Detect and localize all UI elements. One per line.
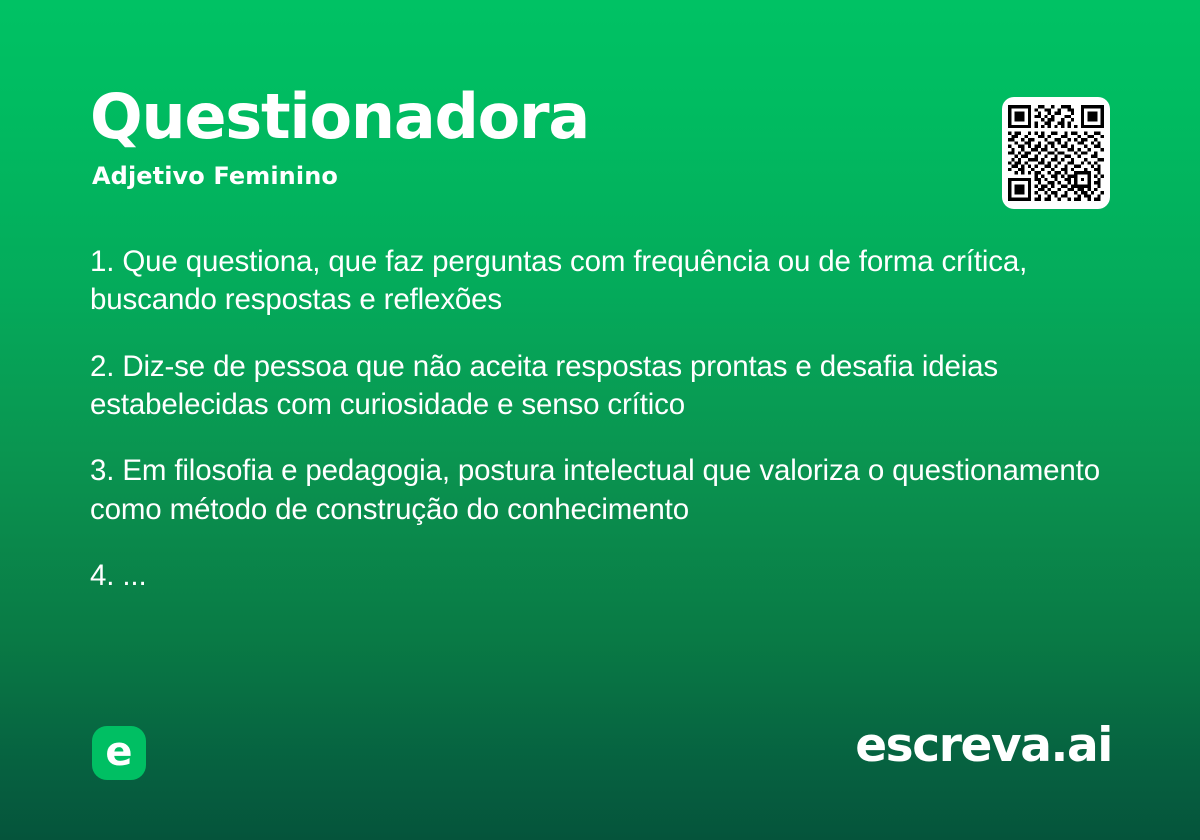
logo[interactable]: e (92, 726, 146, 780)
definition-list: 1. Que questiona, que faz perguntas com … (90, 243, 1112, 595)
definition-item: 2. Diz-se de pessoa que não aceita respo… (90, 348, 1112, 425)
qr-code-icon (1008, 103, 1104, 203)
page-title: Questionadora (90, 86, 970, 148)
definition-item: 3. Em filosofia e pedagogia, postura int… (90, 452, 1112, 529)
logo-letter: e (105, 732, 132, 772)
card-header: Questionadora Adjetivo Feminino (90, 86, 970, 190)
qr-code[interactable] (1002, 97, 1110, 209)
definition-card: Questionadora Adjetivo Feminino (0, 0, 1200, 840)
definition-item: 1. Que questiona, que faz perguntas com … (90, 243, 1112, 320)
brand-name: escreva.ai (855, 722, 1112, 769)
definition-item: 4. ... (90, 557, 1112, 595)
word-class-label: Adjetivo Feminino (92, 162, 970, 190)
